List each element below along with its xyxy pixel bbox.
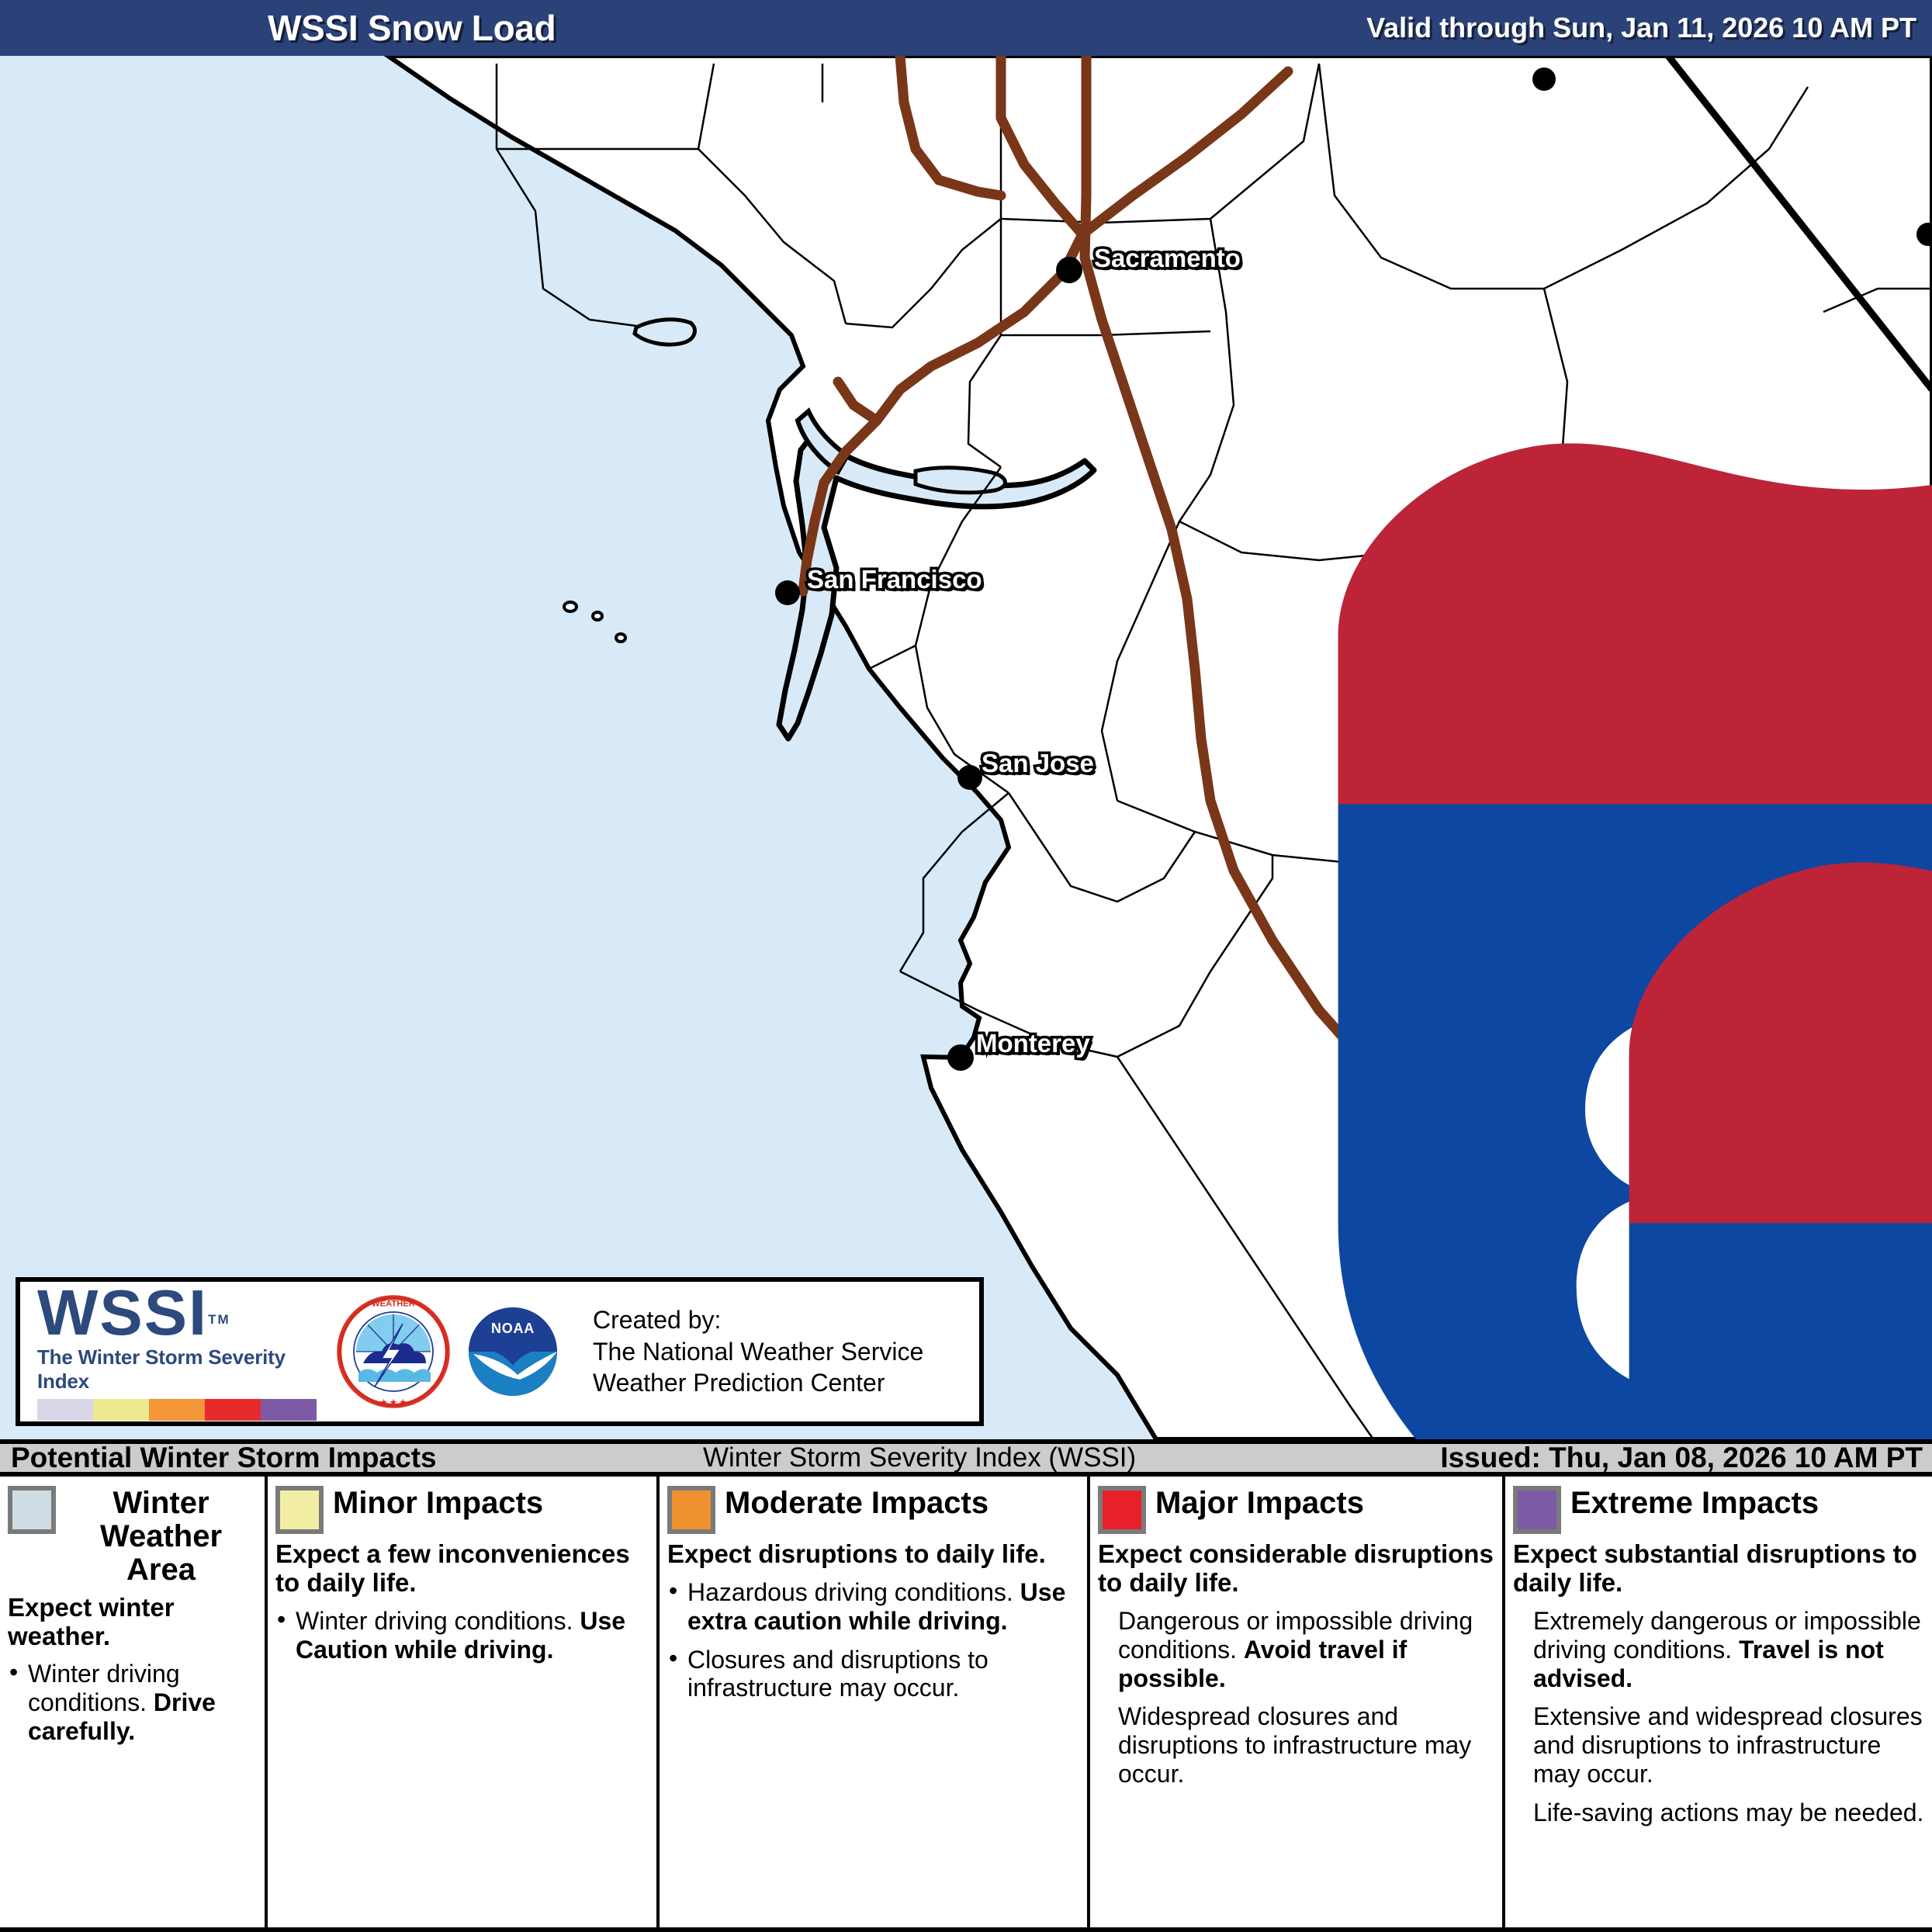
legend-swatch [1513,1486,1561,1534]
wssi-tagline: The Winter Storm Severity Index [37,1345,331,1394]
wssi-logo-box: WSSITM The Winter Storm Severity Index [16,1277,984,1426]
legend-swatch [275,1486,324,1534]
wssi-bar-segment-4 [261,1399,317,1421]
legend-bullet: Extensive and widespread closures and di… [1513,1702,1924,1788]
legend-bullet-text: Hazardous driving conditions. [687,1578,1020,1606]
legend-column-1: Minor ImpactsExpect a few inconveniences… [268,1477,660,1927]
page-title: WSSI Snow Load [268,7,556,49]
wssi-full-name-label: Winter Storm Severity Index (WSSI) [703,1442,1136,1473]
legend-column-2: Moderate ImpactsExpect disruptions to da… [660,1477,1090,1927]
wssi-bar-segment-1 [93,1399,149,1421]
svg-text:★ ★ ★: ★ ★ ★ [380,1398,407,1407]
noaa-logo: NOAA [455,1293,571,1410]
legend-header: Minor Impacts [275,1486,649,1534]
legend-title: Winter Weather Area [65,1486,257,1587]
legend-header: Winter Weather Area [8,1486,257,1587]
wssi-bar-segment-3 [205,1399,261,1421]
legend-summary: Expect a few inconveniences to daily lif… [275,1540,649,1598]
legend-bullet-list: Hazardous driving conditions. Use extra … [667,1578,1079,1702]
wssi-snow-load-page: WSSI Snow Load Valid through Sun, Jan 11… [0,0,1932,1932]
legend-column-0: Winter Weather AreaExpect winter weather… [0,1477,268,1927]
legend-bullet: Winter driving conditions. Use Caution w… [275,1607,649,1664]
legend-summary: Expect considerable disruptions to daily… [1098,1540,1494,1598]
created-by-line-1: Created by: [593,1304,923,1336]
legend-bullet-list: Dangerous or impossible driving conditio… [1098,1607,1494,1788]
potential-impacts-label: Potential Winter Storm Impacts [11,1442,437,1474]
legend-bullet-text: Extensive and widespread closures and di… [1533,1702,1923,1788]
issued-timestamp: Issued: Thu, Jan 08, 2026 10 AM PT [1440,1442,1923,1474]
city-label: Sacramento [1094,244,1241,273]
legend-title: Major Impacts [1155,1486,1364,1520]
legend-title: Minor Impacts [333,1486,543,1520]
legend-bullet: Life-saving actions may be needed. [1513,1799,1924,1827]
svg-text:NOAA: NOAA [491,1321,535,1336]
map-canvas[interactable]: SacramentoSan FranciscoSan JoseFresnoMon… [0,56,1932,1439]
trademark-symbol: TM [208,1312,230,1327]
legend-bullet-text: Closures and disruptions to infrastructu… [687,1646,989,1702]
legend-bullet-text: Life-saving actions may be needed. [1533,1799,1923,1826]
nws-logo: WEATHER ★ ★ ★ [335,1293,452,1410]
agency-logos: WEATHER ★ ★ ★ NOAA [331,1293,576,1410]
wssi-wordmark: WSSITM [37,1283,331,1344]
legend-swatch [667,1486,715,1534]
legend-bullet: Hazardous driving conditions. Use extra … [667,1578,1079,1636]
wssi-wordmark-text: WSSI [37,1276,208,1349]
legend-bullet-text: Widespread closures and disruptions to i… [1118,1702,1471,1788]
legend-column-4: Extreme ImpactsExpect substantial disrup… [1505,1477,1932,1927]
legend-swatch [8,1486,56,1534]
legend-bullet-list: Winter driving conditions. Drive careful… [8,1660,257,1745]
legend-column-3: Major ImpactsExpect considerable disrupt… [1090,1477,1505,1927]
wssi-color-bar [37,1399,317,1421]
city-dot-marker [1532,68,1556,91]
created-by-line-3: Weather Prediction Center [593,1367,923,1399]
legend-summary: Expect winter weather. [8,1594,257,1651]
legend-swatch [1098,1486,1146,1534]
impact-legend: Winter Weather AreaExpect winter weather… [0,1477,1932,1932]
status-bar: Potential Winter Storm Impacts Winter St… [0,1439,1932,1477]
legend-bullet: Extremely dangerous or impossible drivin… [1513,1607,1924,1692]
interstate-shield-80: 80 [896,343,941,394]
city-dot [775,580,800,605]
valid-through-text: Valid through Sun, Jan 11, 2026 10 AM PT [1366,12,1916,44]
page-header: WSSI Snow Load Valid through Sun, Jan 11… [0,0,1932,56]
created-by-text: Created by: The National Weather Service… [576,1304,923,1400]
legend-bullet: Widespread closures and disruptions to i… [1098,1702,1494,1788]
wssi-brand-logo: WSSITM The Winter Storm Severity Index [20,1283,331,1421]
legend-summary: Expect substantial disruptions to daily … [1513,1540,1924,1598]
legend-summary: Expect disruptions to daily life. [667,1540,1079,1569]
legend-title: Moderate Impacts [725,1486,989,1520]
legend-header: Moderate Impacts [667,1486,1079,1534]
city-dot [1056,257,1082,283]
legend-header: Major Impacts [1098,1486,1494,1534]
legend-header: Extreme Impacts [1513,1486,1924,1534]
legend-bullet: Dangerous or impossible driving conditio… [1098,1607,1494,1692]
farallon-islands [564,602,625,642]
wssi-bar-segment-2 [149,1399,205,1421]
legend-bullet-text: Winter driving conditions. [296,1607,580,1635]
legend-bullet-list: Extremely dangerous or impossible drivin… [1513,1607,1924,1827]
interstate-shield-5: 5 [1187,762,1232,813]
created-by-line-2: The National Weather Service [593,1336,923,1368]
legend-bullet: Winter driving conditions. Drive careful… [8,1660,257,1745]
svg-text:WEATHER: WEATHER [372,1300,415,1309]
legend-title: Extreme Impacts [1570,1486,1819,1520]
wssi-bar-segment-0 [37,1399,93,1421]
legend-bullet-list: Winter driving conditions. Use Caution w… [275,1607,649,1664]
legend-bullet: Closures and disruptions to infrastructu… [667,1646,1079,1703]
